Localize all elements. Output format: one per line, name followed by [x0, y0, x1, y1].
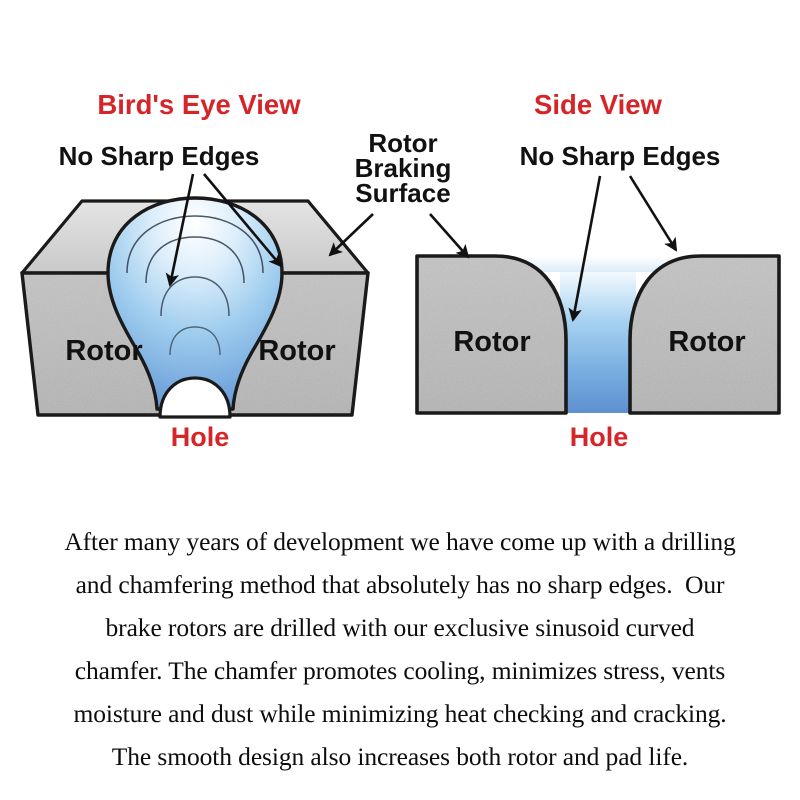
arrow-no-sharp-edges-right-outer	[630, 176, 676, 250]
caption-line: The smooth design also increases both ro…	[0, 735, 800, 778]
callout-rbs-line-3: Surface	[355, 178, 450, 208]
caption-line: moisture and dust while minimizing heat …	[0, 692, 800, 735]
caption-line: chamfer. The chamfer promotes cooling, m…	[0, 649, 800, 692]
caption-paragraph: After many years of development we have …	[0, 520, 800, 778]
birds-eye-label-rotor-left: Rotor	[65, 335, 142, 367]
diagram-page: Rotor Rotor Rotor Rotor Bird's Eye View …	[0, 0, 800, 800]
side-view-label-rotor-right: Rotor	[668, 326, 745, 358]
callout-rotor-braking-surface: Rotor Braking Surface	[355, 128, 452, 208]
side-view-block: Rotor Rotor	[417, 256, 779, 413]
side-view-label-rotor-left: Rotor	[453, 326, 530, 358]
hole-label-left: Hole	[171, 422, 230, 452]
callout-no-sharp-edges-right: No Sharp Edges	[520, 141, 721, 171]
caption-line: After many years of development we have …	[0, 520, 800, 563]
side-view-title: Side View	[534, 89, 662, 120]
caption-line: brake rotors are drilled with our exclus…	[0, 606, 800, 649]
birds-eye-view-title: Bird's Eye View	[97, 89, 301, 120]
birds-eye-label-rotor-right: Rotor	[258, 335, 335, 367]
callout-no-sharp-edges-left: No Sharp Edges	[59, 141, 260, 171]
caption-line: and chamfering method that absolutely ha…	[0, 563, 800, 606]
rotor-chamfer-diagram: Rotor Rotor Rotor Rotor Bird's Eye View …	[0, 0, 800, 480]
side-hole-channel	[560, 256, 636, 413]
arrow-rotor-braking-surface-right	[430, 214, 468, 257]
hole-label-right: Hole	[570, 422, 629, 452]
birds-eye-block: Rotor Rotor	[22, 198, 368, 417]
